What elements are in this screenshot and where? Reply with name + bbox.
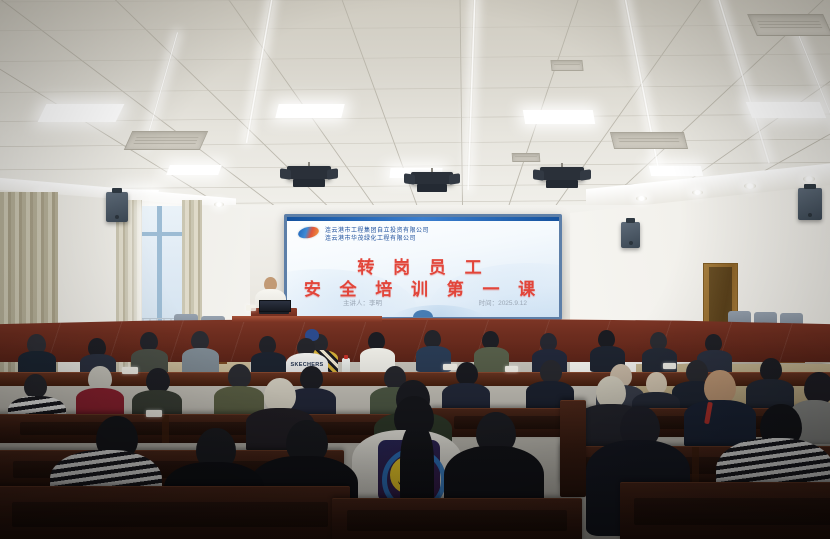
attendee-body: [474, 347, 509, 372]
ceiling-vent-2: [550, 60, 583, 71]
bench-slat: [12, 502, 329, 528]
downlight-right-4: [803, 176, 815, 182]
speaker-bracket-right-near: [804, 184, 816, 189]
ceiling-panel-light-3: [523, 110, 595, 124]
speaker-bracket-right-far: [626, 218, 635, 223]
laptop-screen: [259, 300, 291, 312]
meeting-room-photo: 连云港市工程集团自立投资有限公司 连云港市华茂绿化工程有限公司 转 岗 员 工 …: [0, 0, 830, 539]
ceiling-hanging-unit-center: [411, 168, 453, 195]
projection-screen: 连云港市工程集团自立投资有限公司 连云港市华茂绿化工程有限公司 转 岗 员 工 …: [287, 217, 559, 317]
ceiling-vent-3: [747, 14, 830, 36]
ceiling-vent-4: [610, 132, 688, 149]
attendee-head: [540, 360, 562, 383]
bench-row-front-center: [332, 498, 582, 539]
wall-speaker-right-near: [798, 188, 822, 220]
wall-speaker-left: [106, 192, 128, 222]
bench-slat: [347, 510, 567, 530]
ceiling-panel-light-1: [38, 104, 125, 122]
speaker-bracket-left: [112, 188, 123, 193]
bench-divider-vertical: [560, 400, 586, 497]
desk-paper-6: [146, 410, 162, 417]
presenter-laptop: [259, 300, 289, 314]
ceiling-panel-light-5: [166, 165, 222, 175]
speaker-port-right-near: [808, 213, 812, 217]
ceiling-vent-5: [512, 153, 541, 162]
attendee-head: [228, 364, 251, 388]
bench-row-front: [0, 486, 350, 539]
downlight-right-1: [636, 196, 647, 201]
ceiling-hanging-unit-left: [287, 162, 331, 190]
ceiling-panel-light-2: [275, 104, 344, 118]
company-swoosh-logo: [297, 225, 320, 240]
bench-row-front-right: [620, 482, 830, 539]
slide-date-label: 时间：2025.9.12: [479, 297, 527, 307]
downlight-right-3: [744, 183, 756, 189]
slide-presenter-label: 主讲人：李明: [343, 297, 382, 307]
slide-bottom-dot: [413, 310, 433, 317]
attendee-head: [760, 358, 782, 381]
projection-screen-frame: 连云港市工程集团自立投资有限公司 连云港市华茂绿化工程有限公司 转 岗 员 工 …: [284, 214, 562, 320]
downlight-center: [214, 202, 224, 207]
podium-paper: [246, 305, 256, 311]
bench-slat: [634, 498, 830, 525]
attendee-body: [642, 348, 677, 373]
company-line-2: 连云港市华茂绿化工程有限公司: [325, 233, 416, 242]
ceiling-panel-light-7: [649, 166, 703, 176]
bench-post: [162, 415, 169, 443]
desk-paper-4: [663, 363, 676, 369]
bottle-cap: [344, 355, 348, 359]
speaker-port-left: [115, 215, 119, 219]
speaker-port-right-far: [629, 241, 633, 245]
window-mullion-horizontal: [142, 232, 182, 236]
ceiling-vent-1: [124, 131, 208, 150]
desk-paper-3: [505, 366, 518, 372]
attendee-head: [264, 378, 296, 412]
attendee-head: [300, 366, 323, 390]
attendee-head: [456, 362, 478, 385]
desk-paper-1: [122, 367, 138, 374]
attendee-head: [704, 370, 736, 404]
slide-top-bar: [287, 217, 559, 221]
downlight-right-2: [692, 190, 703, 195]
stage-ledge: [232, 316, 382, 322]
desk-paper-2: [443, 364, 457, 370]
ceiling-hanging-unit-right: [540, 163, 584, 191]
attendee-head: [646, 372, 667, 394]
attendee-body: [182, 348, 219, 374]
ceiling-panel-light-4: [746, 102, 826, 118]
wall-speaker-right-far: [621, 222, 640, 248]
bench-post: [692, 447, 699, 485]
attendee-head: [24, 374, 47, 398]
